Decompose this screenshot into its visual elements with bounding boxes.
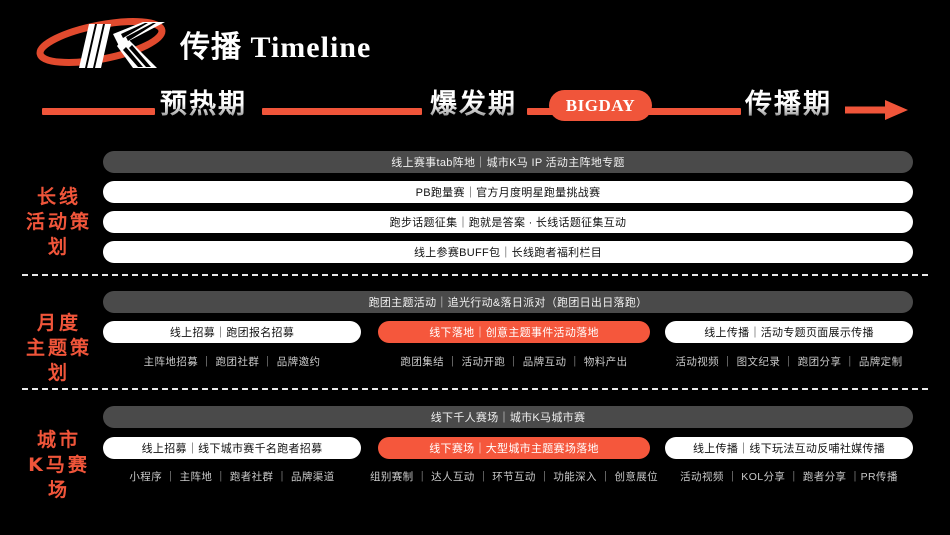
section-divider-2 <box>22 388 928 390</box>
phase-warmup-label: 预热期 <box>160 82 247 121</box>
bar-long-term-3[interactable]: 跑步话题征集｜跑就是答案 · 长线话题征集互动 <box>103 211 913 233</box>
bar-long-term-2[interactable]: PB跑量赛｜官方月度明星跑量挑战赛 <box>103 181 913 203</box>
section-label-monthly: 月度 主题策划 <box>18 311 100 386</box>
bar-monthly-col-3[interactable]: 线上传播｜活动专题页面展示传播 <box>665 321 913 343</box>
section-label-line2: 主题策划 <box>18 336 100 386</box>
bar-monthly-col-1[interactable]: 线上招募｜跑团报名招募 <box>103 321 361 343</box>
section-label-line1: 月度 <box>18 311 100 336</box>
bar-monthly-col-2[interactable]: 线下落地｜创意主题事件活动落地 <box>378 321 650 343</box>
phase-peak-label: 爆发期 <box>430 82 517 121</box>
section-label-line1: 城市 <box>18 428 100 453</box>
sub-monthly-2: 跑团集结 ｜ 活动开跑 ｜ 品牌互动 ｜ 物料产出 <box>378 353 650 369</box>
bigday-badge[interactable]: BIGDAY <box>549 90 652 121</box>
timeline-infographic: 传播 Timeline 预热期 爆发期 传播期 BIGDAY 长线 活动策划 线… <box>0 0 950 535</box>
page-header: 传播 Timeline <box>0 0 950 80</box>
bar-long-term-1[interactable]: 线上赛事tab阵地｜城市K马 IP 活动主阵地专题 <box>103 151 913 173</box>
sub-city-2: 组别赛制 ｜ 达人互动 ｜ 环节互动 ｜ 功能深入 ｜ 创意展位 <box>370 468 658 484</box>
timeline-arrow-icon <box>845 98 908 122</box>
page-title: 传播 Timeline <box>180 22 371 66</box>
sub-city-3: 活动视频 ｜ KOL分享 ｜ 跑者分享 ｜PR传播 <box>665 468 913 484</box>
section-label-line2: K马赛场 <box>18 453 100 503</box>
bar-city-col-1[interactable]: 线上招募｜线下城市赛千名跑者招募 <box>103 437 361 459</box>
bar-city-col-3[interactable]: 线上传播｜线下玩法互动反哺社媒传播 <box>665 437 913 459</box>
sub-city-1: 小程序 ｜ 主阵地 ｜ 跑者社群 ｜ 品牌渠道 <box>103 468 361 484</box>
timeline-segment-1 <box>42 108 155 115</box>
section-label-city-race: 城市 K马赛场 <box>18 428 100 503</box>
section-label-line2: 活动策划 <box>18 210 100 260</box>
bar-city-col-2[interactable]: 线下赛场｜大型城市主题赛场落地 <box>378 437 650 459</box>
sub-monthly-1: 主阵地招募 ｜ 跑团社群 ｜ 品牌邀约 <box>103 353 361 369</box>
bar-long-term-4[interactable]: 线上参赛BUFF包｜长线跑者福利栏目 <box>103 241 913 263</box>
timeline-segment-4 <box>640 108 741 115</box>
sub-monthly-3: 活动视频 ｜ 图文纪录 ｜ 跑团分享 ｜ 品牌定制 <box>665 353 913 369</box>
timeline-strip: 预热期 爆发期 传播期 <box>0 82 950 138</box>
section-label-line1: 长线 <box>18 185 100 210</box>
city-k-ma-logo <box>33 16 173 72</box>
section-label-long-term: 长线 活动策划 <box>18 185 100 260</box>
phase-spread-label: 传播期 <box>745 82 832 121</box>
timeline-segment-2 <box>262 108 422 115</box>
bar-monthly-header[interactable]: 跑团主题活动｜追光行动&落日派对（跑团日出日落跑） <box>103 291 913 313</box>
bar-city-header[interactable]: 线下千人赛场｜城市K马城市赛 <box>103 406 913 428</box>
section-divider-1 <box>22 274 928 276</box>
